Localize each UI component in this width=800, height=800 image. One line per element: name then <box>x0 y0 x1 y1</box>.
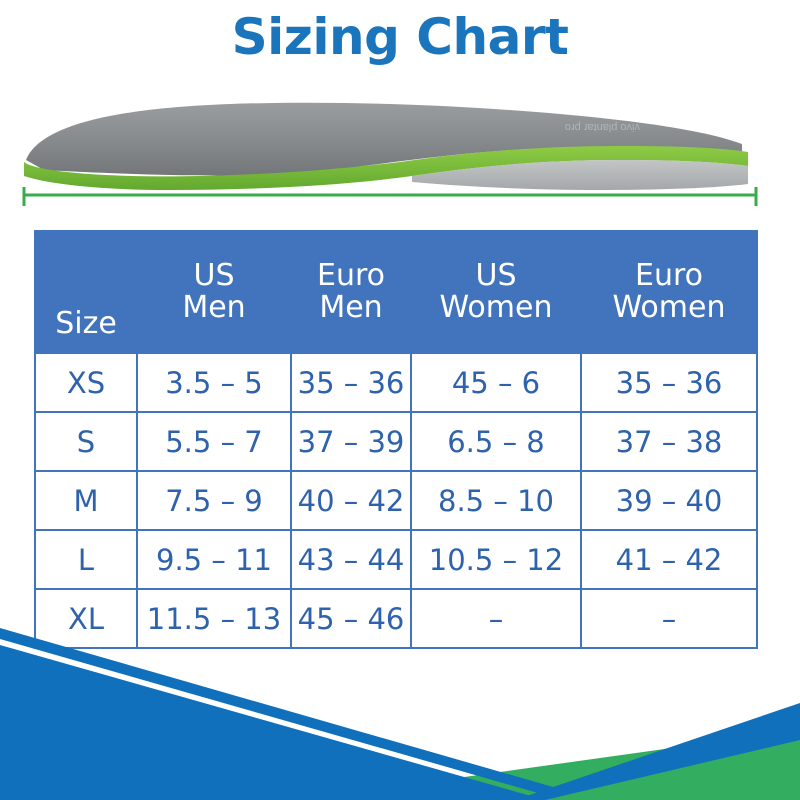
table-row: XS 3.5 – 5 35 – 36 45 – 6 35 – 36 <box>35 353 757 412</box>
cell-euro-men: 43 – 44 <box>291 530 411 589</box>
cell-size: S <box>35 412 137 471</box>
column-header-us-men-line1: US <box>140 260 288 292</box>
cell-euro-men: 37 – 39 <box>291 412 411 471</box>
cell-us-men: 9.5 – 11 <box>137 530 291 589</box>
cell-us-women: 6.5 – 8 <box>411 412 581 471</box>
column-header-size: Size <box>35 231 137 353</box>
column-header-euro-men: Euro Men <box>291 231 411 353</box>
insole-brand-text: vivo plantar pro <box>565 121 640 133</box>
cell-size: XS <box>35 353 137 412</box>
column-header-size-label: Size <box>38 308 134 340</box>
cell-us-women: 8.5 – 10 <box>411 471 581 530</box>
cell-euro-women: 37 – 38 <box>581 412 757 471</box>
column-header-euro-men-line1: Euro <box>294 260 408 292</box>
column-header-us-women-line1: US <box>414 260 578 292</box>
column-header-us-women-line2: Women <box>414 292 578 324</box>
banner-chevron-graphic <box>0 625 800 800</box>
cell-euro-men: 40 – 42 <box>291 471 411 530</box>
table-row: M 7.5 – 9 40 – 42 8.5 – 10 39 – 40 <box>35 471 757 530</box>
cell-euro-women: 41 – 42 <box>581 530 757 589</box>
cell-us-men: 5.5 – 7 <box>137 412 291 471</box>
length-measurement-bracket <box>23 187 757 206</box>
cell-us-women: 10.5 – 12 <box>411 530 581 589</box>
column-header-us-men-line2: Men <box>140 292 288 324</box>
banner-blue-left <box>0 645 545 800</box>
page-title: Sizing Chart <box>0 8 800 66</box>
insole-side-view-icon: vivo plantar pro <box>0 92 800 212</box>
column-header-us-women: US Women <box>411 231 581 353</box>
cell-size: L <box>35 530 137 589</box>
cell-euro-men: 35 – 36 <box>291 353 411 412</box>
column-header-euro-women-line2: Women <box>584 292 754 324</box>
column-header-euro-women: Euro Women <box>581 231 757 353</box>
cell-euro-women: 35 – 36 <box>581 353 757 412</box>
column-header-us-men: US Men <box>137 231 291 353</box>
column-header-euro-women-line1: Euro <box>584 260 754 292</box>
table-row: L 9.5 – 11 43 – 44 10.5 – 12 41 – 42 <box>35 530 757 589</box>
decorative-banner <box>0 625 800 800</box>
table-header-row: Size US Men Euro Men US Women Euro Women <box>35 231 757 353</box>
table-row: S 5.5 – 7 37 – 39 6.5 – 8 37 – 38 <box>35 412 757 471</box>
sizing-table: Size US Men Euro Men US Women Euro Women… <box>34 230 758 649</box>
cell-us-women: 45 – 6 <box>411 353 581 412</box>
column-header-euro-men-line2: Men <box>294 292 408 324</box>
cell-us-men: 3.5 – 5 <box>137 353 291 412</box>
cell-us-men: 7.5 – 9 <box>137 471 291 530</box>
cell-size: M <box>35 471 137 530</box>
cell-euro-women: 39 – 40 <box>581 471 757 530</box>
product-illustration: vivo plantar pro <box>0 92 800 212</box>
